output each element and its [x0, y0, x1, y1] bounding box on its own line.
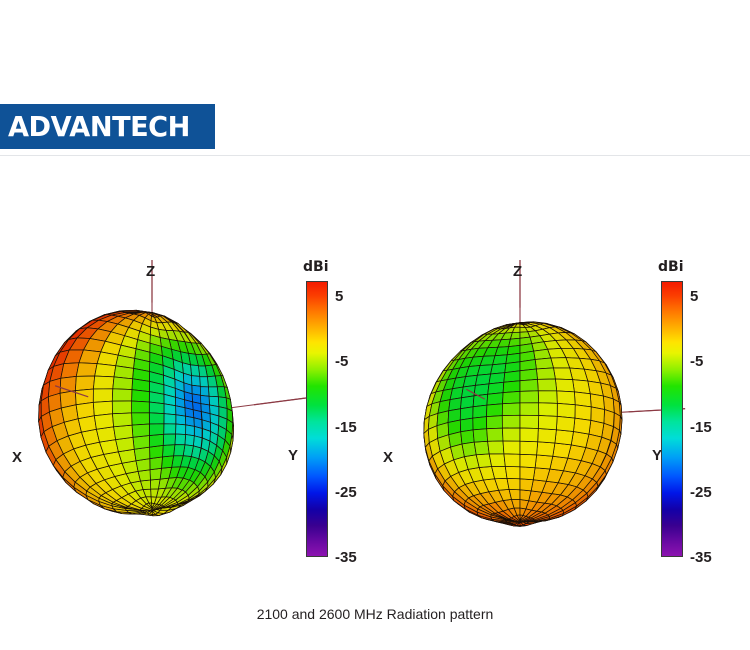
surface-facet	[557, 403, 575, 418]
surface-facet	[207, 376, 217, 387]
surface-facet	[520, 428, 538, 442]
figure-caption: 2100 and 2600 MHz Radiation pattern	[0, 606, 750, 622]
axis-label-z-right: Z	[513, 264, 522, 279]
surface-facet	[488, 441, 504, 454]
surface-facet	[520, 369, 538, 381]
surface-facet	[520, 467, 535, 480]
colorbar-tick: 5	[690, 289, 698, 304]
surface-facet	[149, 434, 163, 447]
surface-facet	[162, 456, 174, 469]
colorbar-right: dBi 5-5-15-25-35	[654, 260, 730, 580]
colorbar-ticks-right: 5-5-15-25-35	[690, 281, 730, 557]
radiation-pattern-figure: X Y Z dBi 5-5-15-25-35 X Y Z dBi 5-5-15-…	[0, 156, 750, 650]
colorbar-title-left: dBi	[303, 260, 329, 274]
surface-facet	[95, 364, 116, 377]
surface-facet	[554, 368, 573, 380]
colorbar-tick: -25	[690, 485, 712, 500]
surface-facet	[150, 468, 162, 480]
surface-facet	[191, 365, 200, 377]
page-header: ADVANTECH	[0, 0, 750, 156]
axis-label-x-left: X	[12, 450, 22, 465]
surface-facet	[520, 441, 538, 455]
surface-facet	[574, 418, 591, 434]
colorbar-tick: -35	[690, 550, 712, 565]
surface-facet	[93, 376, 114, 389]
surface-facet	[192, 376, 201, 387]
surface-facet	[520, 490, 531, 501]
colorbar-tick: -5	[690, 354, 703, 369]
surface-facet	[78, 416, 96, 432]
surface-facet	[186, 425, 195, 436]
surface-facet	[557, 391, 576, 405]
surface-facet	[93, 401, 112, 416]
surface-facet	[573, 380, 591, 394]
surface-facet	[502, 415, 520, 428]
surface-facet	[520, 379, 538, 391]
surface-facet	[163, 434, 175, 445]
surface-facet	[505, 466, 520, 478]
colorbar-gradient-left	[306, 281, 328, 557]
surface-facet	[539, 403, 558, 417]
surface-facet	[473, 405, 487, 418]
surface-mesh	[424, 322, 622, 527]
surface-facet	[132, 413, 150, 425]
surface-facet	[504, 454, 520, 467]
surface-facet	[132, 401, 150, 413]
surface-facet	[575, 405, 591, 421]
surface-facet	[149, 413, 164, 424]
surface-facet	[520, 403, 539, 416]
surface-facet	[200, 387, 209, 397]
surface-facet	[492, 466, 507, 478]
colorbar-tick: -15	[690, 420, 712, 435]
surface-facet	[535, 455, 553, 469]
surface-facet	[538, 391, 557, 404]
surface-facet	[538, 429, 557, 444]
surface-facet	[537, 442, 555, 456]
surface-facet	[176, 415, 186, 425]
surface-facet	[461, 430, 475, 444]
surface-facet	[555, 379, 574, 392]
surface-facet	[502, 428, 520, 441]
surface-facet	[555, 430, 574, 445]
colorbar-title-right: dBi	[658, 260, 684, 274]
colorbar-gradient-right	[661, 281, 683, 557]
surface-facet	[487, 393, 503, 406]
surface-facet	[208, 387, 218, 397]
surface-facet	[474, 441, 489, 455]
colorbar-tick: -35	[335, 550, 357, 565]
surface-facet	[93, 389, 113, 403]
surface-facet	[164, 414, 176, 424]
surface-facet	[535, 358, 553, 369]
surface-facet	[133, 436, 150, 450]
surface-facet	[164, 404, 176, 415]
surface-facet	[462, 442, 476, 457]
colorbar-tick: -25	[335, 485, 357, 500]
logo-text: ADVANTECH	[8, 113, 190, 141]
surface-facet	[503, 441, 520, 454]
surface-facet	[520, 391, 539, 403]
surface-facet	[112, 401, 131, 414]
colorbar-tick: -15	[335, 420, 357, 435]
colorbar-tick: 5	[335, 289, 343, 304]
surface-facet	[94, 414, 113, 429]
surface-facet	[114, 425, 133, 440]
surface-facet	[150, 445, 164, 458]
surface-facet	[149, 424, 164, 436]
colorbar-tick: -5	[335, 354, 348, 369]
surface-facet	[553, 443, 571, 458]
surface-facet	[175, 434, 186, 445]
surface-facet	[503, 391, 521, 403]
advantech-logo: ADVANTECH	[0, 104, 215, 149]
surface-facet	[113, 377, 133, 390]
surface-facet	[487, 428, 503, 441]
axis-label-y-left: Y	[288, 448, 298, 463]
surface-facet	[460, 418, 473, 432]
surface-facet	[75, 376, 94, 391]
surface-facet	[487, 416, 503, 429]
surface-facet	[174, 445, 185, 456]
surface-facet	[112, 389, 132, 401]
surface-facet	[149, 402, 164, 414]
surface-facet	[520, 415, 539, 428]
surface-facet	[473, 429, 488, 442]
surface-facet	[503, 381, 520, 393]
surface-facet	[132, 390, 150, 402]
axis-label-z-left: Z	[146, 264, 155, 279]
axis-label-x-right: X	[383, 450, 393, 465]
surface-facet	[113, 413, 133, 427]
surface-facet	[185, 435, 194, 446]
colorbar-left: dBi 5-5-15-25-35	[299, 260, 375, 580]
surface-facet	[199, 377, 208, 387]
surface-facet	[163, 445, 175, 457]
surface-facet	[150, 457, 163, 470]
surface-facet	[76, 363, 97, 377]
surface-facet	[556, 416, 575, 431]
surface-facet	[132, 424, 149, 437]
surface-facet	[473, 417, 487, 430]
surface-facet	[164, 424, 176, 435]
surface-facet	[489, 454, 505, 467]
surface-facet	[176, 424, 186, 435]
surface-facet	[150, 479, 160, 489]
surface-facet	[487, 404, 503, 417]
surface-facet	[520, 479, 533, 491]
surface-facet	[502, 403, 520, 416]
surface-facet	[538, 416, 557, 430]
surface-mesh	[39, 310, 234, 516]
surface-facet	[538, 379, 557, 391]
surface-facet	[520, 454, 537, 468]
colorbar-ticks-left: 5-5-15-25-35	[335, 281, 375, 557]
surface-facet	[507, 478, 520, 489]
surface-facet	[536, 368, 555, 380]
surface-facet	[551, 358, 570, 368]
